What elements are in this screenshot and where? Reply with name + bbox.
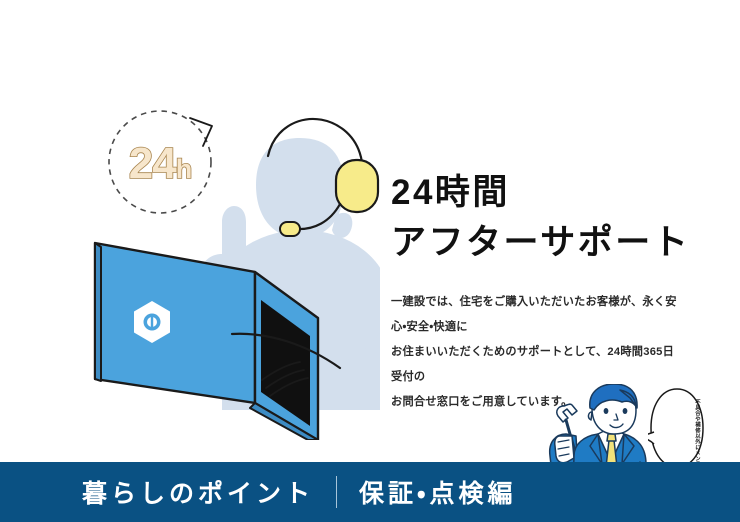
laptop-lid-edge <box>95 243 101 381</box>
copy-block: 24時間 アフターサポート 一建設では、住宅をご購入いただいたお客様が、永く安心… <box>391 168 691 415</box>
banner-content: 暮らしのポイント 保証・点検編 <box>82 474 517 510</box>
badge-24h-group: 24h <box>109 111 212 213</box>
bubble-col-1: 不具合や補修以外に <box>660 399 700 450</box>
banner-right-label: 保証・点検編 <box>359 474 517 510</box>
badge-24h-label: 24h <box>129 139 191 188</box>
support-illustration: 24h <box>0 0 380 440</box>
banner-left-label: 暮らしのポイント <box>82 474 314 510</box>
heading-line-2: アフターサポート <box>391 218 691 268</box>
promo-page: 24h <box>0 0 740 522</box>
headset-earcup-icon <box>336 160 378 212</box>
worker-ear <box>588 412 592 420</box>
worker-eye-left <box>604 408 609 414</box>
laptop-lid <box>95 243 255 403</box>
banner-divider <box>336 476 337 508</box>
worker-tie-knot <box>607 434 616 441</box>
speech-bubble-text: 不具合や補修以外に メンテナンスのご相談も お受けしています <box>660 399 700 461</box>
body-line-2: お住まいいただくためのサポートとして、24時間365日受付の <box>391 340 683 390</box>
headset-mic-icon <box>280 222 300 236</box>
heading-line-1: 24時間 <box>391 168 691 218</box>
speech-bubble-tail <box>648 432 654 444</box>
body-line-1: 一建設では、住宅をご購入いただいたお客様が、永く安心・安全・快適に <box>391 290 683 340</box>
worker-eye-right <box>623 408 628 414</box>
bottom-banner: 暮らしのポイント 保証・点検編 <box>0 462 740 522</box>
